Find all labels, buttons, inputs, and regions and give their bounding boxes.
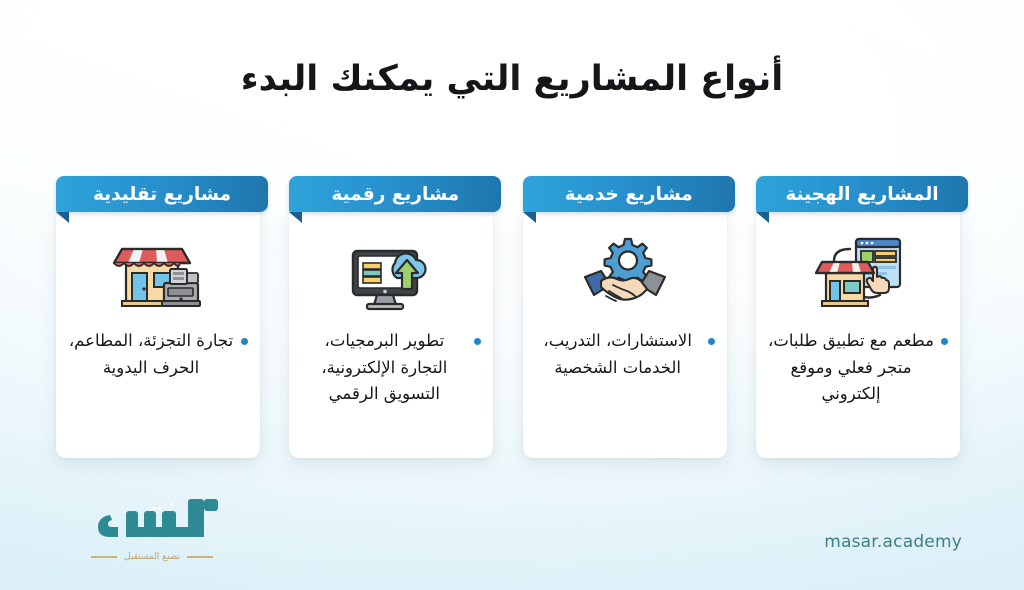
monitor-cloud-upload-icon <box>345 230 437 316</box>
card-header-hybrid: المشاريع الهجينة <box>756 176 968 212</box>
card-body-label: مطعم مع تطبيق طلبات، متجر فعلي وموقع إلك… <box>768 331 934 403</box>
cards-row: مشاريع تقليدية <box>56 176 968 458</box>
card-hybrid: المشاريع الهجينة <box>756 176 968 458</box>
website-label: masar.academy <box>824 532 962 552</box>
card-services: مشاريع خدمية <box>523 176 735 458</box>
bullet-icon <box>474 338 481 345</box>
page-title: أنواع المشاريع التي يمكنك البدء <box>0 58 1024 102</box>
slide-root: أنواع المشاريع التي يمكنك البدء مشاريع ت… <box>0 0 1024 590</box>
card-body-digital: تطوير البرمجيات، التجارة الإلكترونية، ال… <box>289 208 493 458</box>
ribbon-fold-icon <box>56 212 69 223</box>
card-header-digital: مشاريع رقمية <box>289 176 501 212</box>
card-body-traditional: تجارة التجزئة، المطاعم، الحرف اليدوية <box>56 208 260 458</box>
ribbon-fold-icon <box>756 212 769 223</box>
bullet-icon <box>241 338 248 345</box>
card-header-label: مشاريع خدمية <box>565 184 693 205</box>
card-body-label: الاستشارات، التدريب، الخدمات الشخصية <box>543 331 692 377</box>
card-text-digital: تطوير البرمجيات، التجارة الإلكترونية، ال… <box>301 328 481 408</box>
card-header-label: مشاريع رقمية <box>331 184 459 205</box>
card-body-hybrid: مطعم مع تطبيق طلبات، متجر فعلي وموقع إلك… <box>756 208 960 458</box>
tagline-dash-left-icon <box>187 556 213 558</box>
card-text-services: الاستشارات، التدريب، الخدمات الشخصية <box>535 328 715 381</box>
card-digital: مشاريع رقمية <box>289 176 501 458</box>
brand-logo: نصنع المستقبل <box>62 493 242 562</box>
ribbon-fold-icon <box>289 212 302 223</box>
bullet-icon <box>708 338 715 345</box>
storefront-cash-register-icon <box>112 230 204 316</box>
logo-tagline: نصنع المستقبل <box>62 552 242 562</box>
tagline-dash-right-icon <box>91 556 117 558</box>
bullet-icon <box>941 338 948 345</box>
card-header-traditional: مشاريع تقليدية <box>56 176 268 212</box>
card-body-services: الاستشارات، التدريب، الخدمات الشخصية <box>523 208 727 458</box>
handshake-gear-icon <box>579 230 671 316</box>
card-body-label: تطوير البرمجيات، التجارة الإلكترونية، ال… <box>321 331 447 403</box>
card-header-label: مشاريع تقليدية <box>93 184 231 205</box>
card-header-services: مشاريع خدمية <box>523 176 735 212</box>
ribbon-fold-icon <box>523 212 536 223</box>
card-text-hybrid: مطعم مع تطبيق طلبات، متجر فعلي وموقع إلك… <box>768 328 948 408</box>
masar-logo-icon <box>92 493 242 545</box>
card-header-label: المشاريع الهجينة <box>785 184 938 205</box>
card-text-traditional: تجارة التجزئة، المطاعم، الحرف اليدوية <box>68 328 248 381</box>
tagline-label: نصنع المستقبل <box>124 552 180 562</box>
card-body-label: تجارة التجزئة، المطاعم، الحرف اليدوية <box>69 331 233 377</box>
card-traditional: مشاريع تقليدية <box>56 176 268 458</box>
storefront-browser-hybrid-icon <box>812 230 904 316</box>
